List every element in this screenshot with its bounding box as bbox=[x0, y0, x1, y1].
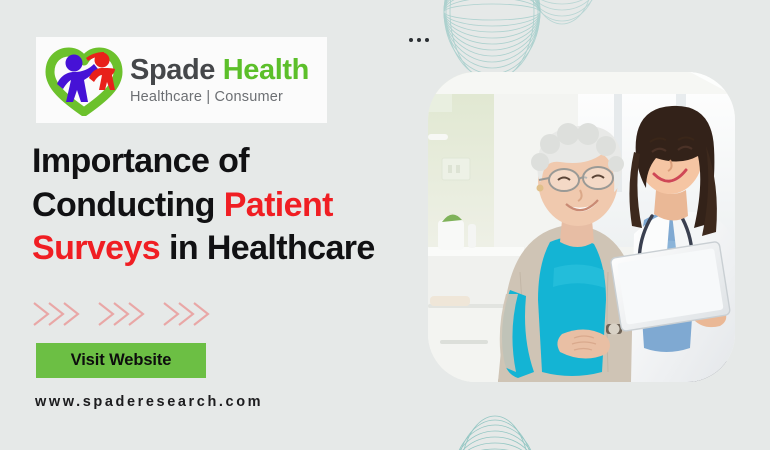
brand-logo-card[interactable]: Spade Health Healthcare | Consumer bbox=[36, 37, 327, 123]
dot bbox=[417, 38, 421, 42]
wave-spiral-decoration-icon bbox=[420, 0, 605, 77]
headline-part-2: in Healthcare bbox=[160, 229, 375, 267]
brand-wordmark-primary: Spade bbox=[130, 54, 215, 86]
brand-wordmark-secondary: Health bbox=[223, 54, 309, 86]
website-url[interactable]: www.spaderesearch.com bbox=[35, 394, 263, 410]
wave-spiral-decoration-icon bbox=[400, 378, 580, 450]
visit-website-button[interactable]: Visit Website bbox=[36, 343, 206, 378]
brand-tagline: Healthcare | Consumer bbox=[130, 89, 309, 105]
banner-canvas: Spade Health Healthcare | Consumer Impor… bbox=[0, 0, 770, 450]
chevron-arrows-decoration bbox=[30, 296, 230, 332]
dot bbox=[425, 38, 429, 42]
dot bbox=[409, 38, 413, 42]
heart-people-logo-icon bbox=[44, 44, 124, 116]
three-dots-icon bbox=[409, 38, 429, 42]
hero-photo bbox=[428, 72, 735, 382]
page-title: Importance of Conducting Patient Surveys… bbox=[32, 140, 432, 271]
brand-logo-text: Spade Health Healthcare | Consumer bbox=[130, 55, 309, 105]
headline-part-1: Importance of Conducting bbox=[32, 142, 249, 224]
brand-wordmark: Spade Health bbox=[130, 55, 309, 85]
